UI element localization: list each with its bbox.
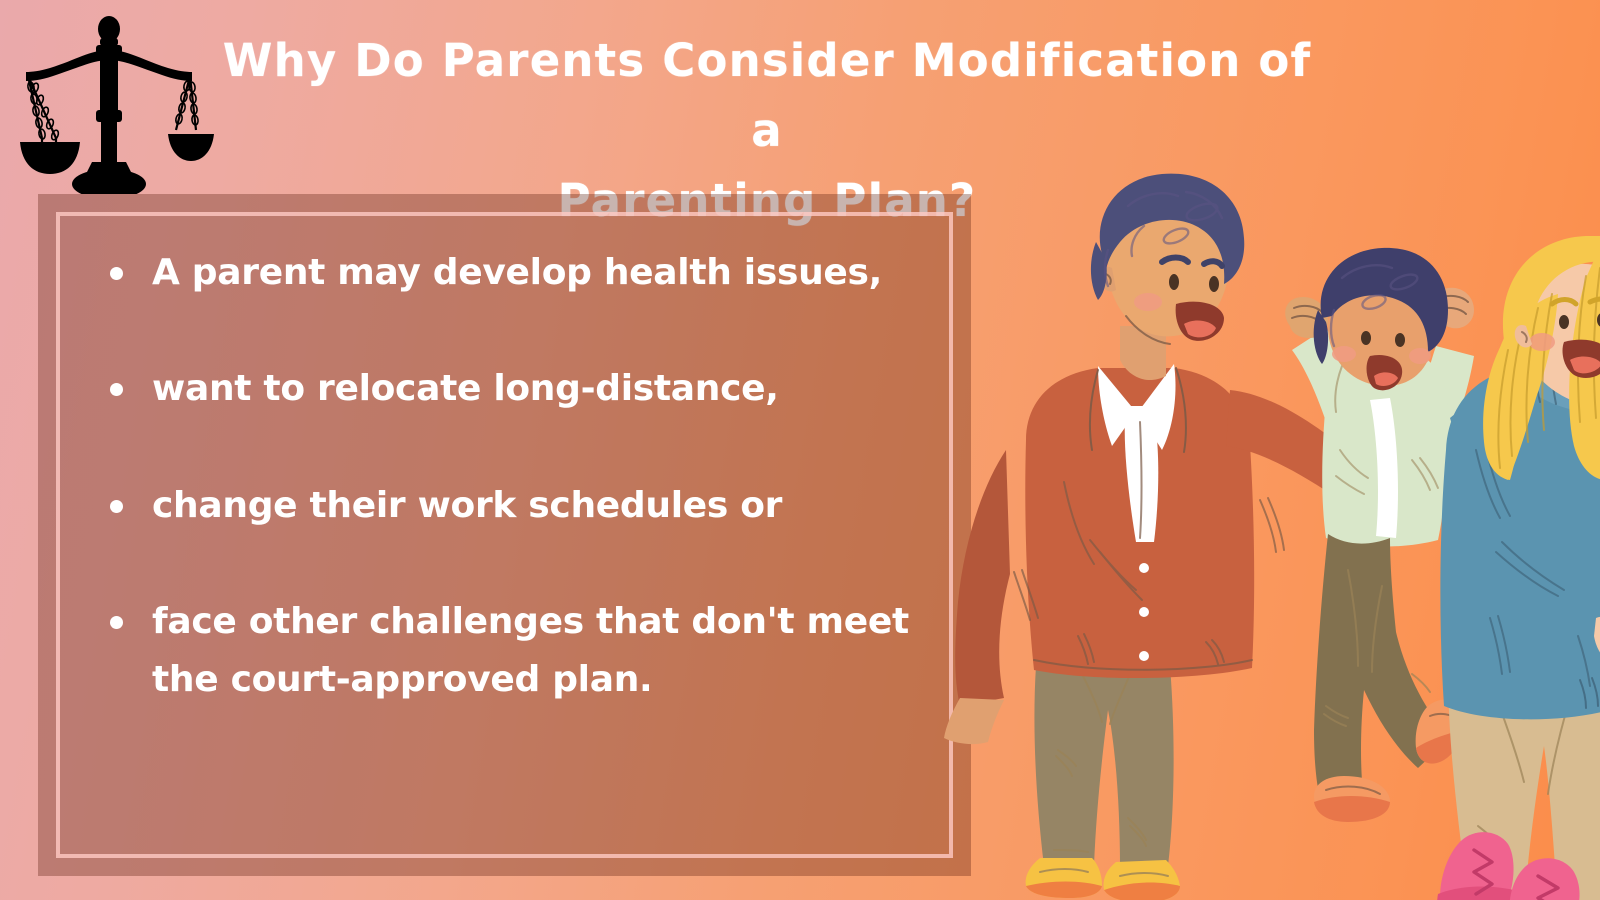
list-item-label: A parent may develop health issues, [152,252,882,293]
bullet-dot-icon [110,383,123,396]
list-item: A parent may develop health issues, [104,244,919,302]
list-item: want to relocate long-distance, [104,360,919,418]
mother-figure [1437,236,1600,900]
bullet-list: A parent may develop health issues, want… [104,244,919,836]
list-item-label: want to relocate long-distance, [152,368,779,409]
scales-of-justice-icon [4,12,214,194]
bullet-dot-icon [110,267,123,280]
page-title-line-1: Why Do Parents Consider Modification of … [222,26,1312,166]
father-figure [944,174,1356,900]
list-item-label: face other challenges that don't meet th… [152,601,909,700]
bullet-dot-icon [110,500,123,513]
bullet-dot-icon [110,616,123,629]
list-item: face other challenges that don't meet th… [104,593,919,710]
content-card: A parent may develop health issues, want… [38,194,971,876]
family-walking-illustration: .ln{stroke:#7a5a46;stroke-width:2;fill:n… [930,150,1600,900]
infographic-canvas: Why Do Parents Consider Modification of … [0,0,1600,900]
list-item: change their work schedules or [104,477,919,535]
list-item-label: change their work schedules or [152,485,782,526]
